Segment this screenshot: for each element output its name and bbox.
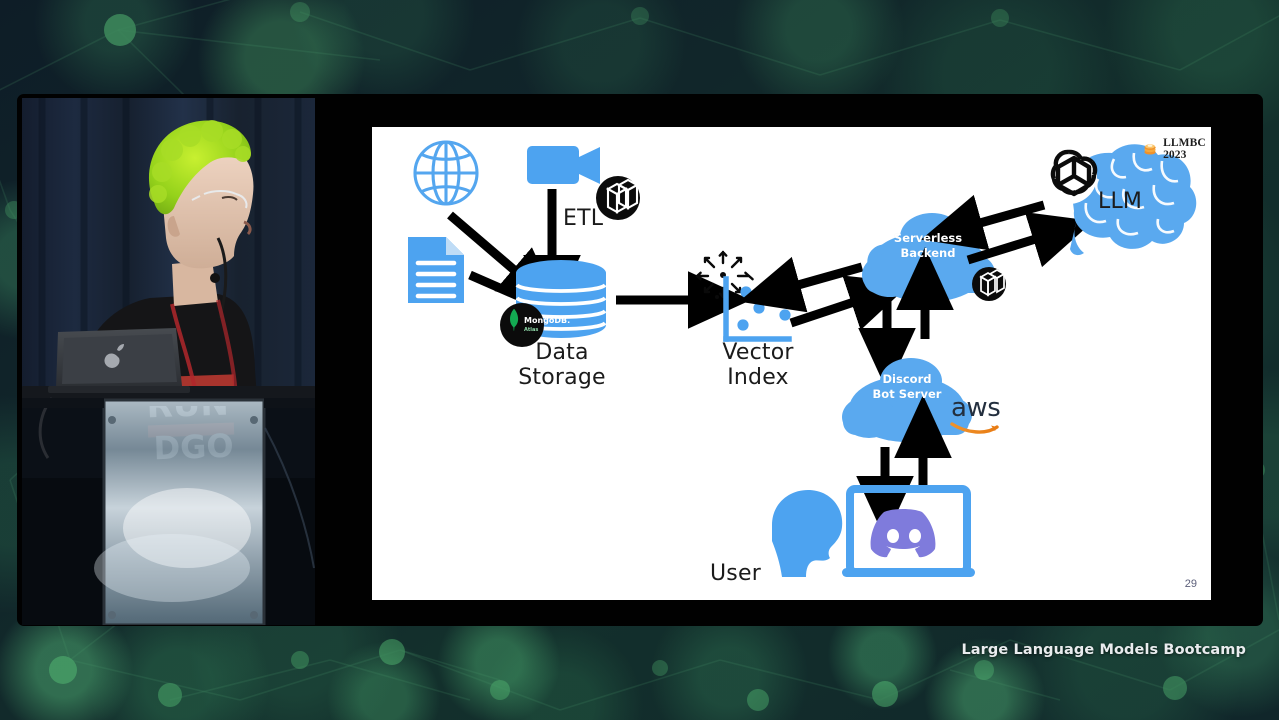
modal-logo-icon-backend bbox=[972, 267, 1006, 301]
speaker-photo: RUN DGO bbox=[22, 98, 315, 625]
label-etl: ETL bbox=[563, 206, 603, 231]
label-data-storage: Data Storage bbox=[502, 340, 622, 391]
speaker-camera-pane: RUN DGO bbox=[22, 98, 315, 625]
document-icon bbox=[408, 237, 464, 303]
arrow-llm-to-backend bbox=[973, 205, 1044, 225]
person-head-icon bbox=[772, 490, 842, 577]
label-discord-bot-server: Discord Bot Server bbox=[847, 372, 967, 401]
label-serverless-backend: Serverless Backend bbox=[868, 231, 988, 260]
llmbc-badge: LLMBC 2023 bbox=[1143, 137, 1211, 161]
discord-logo-icon bbox=[871, 509, 936, 557]
label-vector-index: Vector Index bbox=[698, 340, 818, 391]
openai-logo-icon bbox=[1041, 148, 1097, 204]
pancakes-icon bbox=[1143, 139, 1157, 159]
label-user: User bbox=[710, 561, 761, 586]
globe-icon bbox=[415, 142, 477, 204]
label-llm: LLM bbox=[1098, 189, 1142, 214]
footer-title: Large Language Models Bootcamp bbox=[961, 642, 1246, 658]
video-camera-icon bbox=[527, 146, 600, 184]
arrow-backend-to-vector bbox=[791, 267, 862, 287]
llmbc-label: LLMBC 2023 bbox=[1163, 137, 1211, 161]
arrow-vector-to-backend bbox=[791, 300, 860, 323]
page-number: 29 bbox=[1185, 578, 1197, 590]
slide-content: MongoDB. Atlas bbox=[372, 127, 1211, 600]
laptop-discord-icon bbox=[842, 489, 975, 577]
svg-text:Atlas: Atlas bbox=[524, 327, 538, 333]
svg-text:MongoDB.: MongoDB. bbox=[524, 316, 570, 325]
